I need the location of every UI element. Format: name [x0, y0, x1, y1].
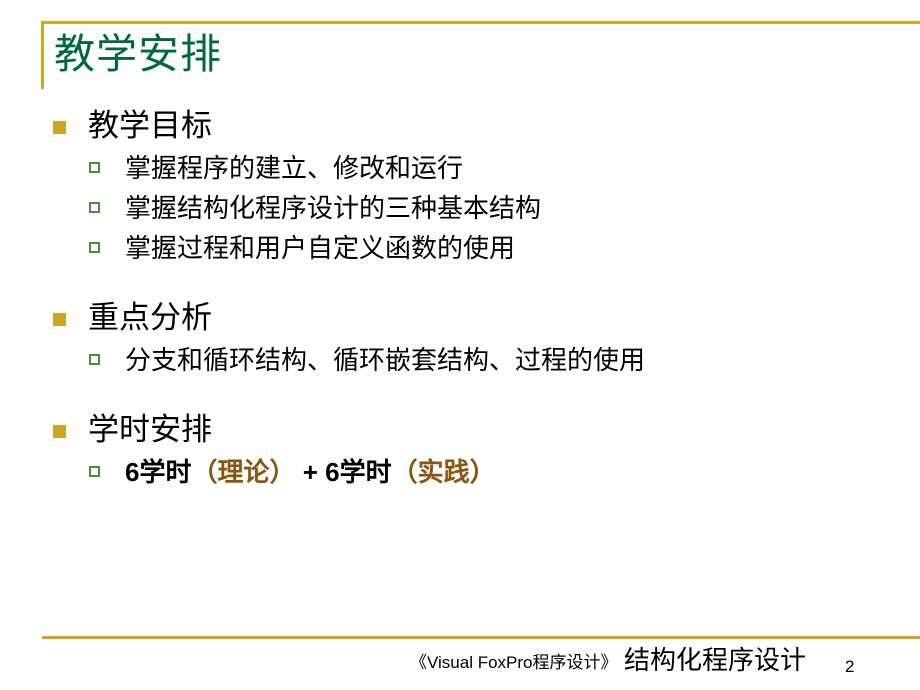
filled-square-bullet-icon [53, 121, 66, 134]
title-top-rule-icon [41, 21, 920, 24]
footer-rule-icon [42, 636, 920, 639]
section-key-analysis: 重点分析 分支和循环结构、循环嵌套结构、过程的使用 [0, 296, 920, 380]
section-class-hours: 学时安排 6学时（理论） + 6学时（实践） [0, 408, 920, 492]
filled-square-bullet-icon [53, 313, 66, 326]
list-item: 掌握程序的建立、修改和运行 [0, 148, 920, 188]
hours-plus-operator: + [295, 457, 325, 487]
section-spacer [0, 386, 920, 408]
hollow-square-bullet-icon [89, 202, 100, 213]
footer-chapter-title: 结构化程序设计 [624, 644, 806, 676]
list-item-label: 掌握程序的建立、修改和运行 [125, 153, 463, 183]
slide-footer: 《Visual FoxPro程序设计》 结构化程序设计 2 [0, 644, 920, 690]
section-spacer [0, 274, 920, 296]
list-item-label: 掌握结构化程序设计的三种基本结构 [125, 193, 541, 223]
hollow-square-bullet-icon [89, 162, 100, 173]
hollow-square-bullet-icon [89, 354, 100, 365]
hollow-square-bullet-icon [89, 466, 100, 477]
page-title: 教学安排 [54, 28, 222, 80]
section-heading: 教学目标 [0, 104, 920, 148]
list-item: 分支和循环结构、循环嵌套结构、过程的使用 [0, 340, 920, 380]
section-teaching-goals: 教学目标 掌握程序的建立、修改和运行 掌握结构化程序设计的三种基本结构 掌握过程… [0, 104, 920, 268]
list-item: 6学时（理论） + 6学时（实践） [0, 452, 920, 492]
hollow-square-bullet-icon [89, 242, 100, 253]
slide-canvas: 教学安排 教学目标 掌握程序的建立、修改和运行 掌握结构化程序设计的三种基本结构… [0, 0, 920, 690]
section-heading: 学时安排 [0, 408, 920, 452]
section-heading-label: 重点分析 [88, 300, 212, 335]
list-item-label: 分支和循环结构、循环嵌套结构、过程的使用 [125, 345, 645, 375]
hours-part2-number: 6学时 [325, 457, 391, 487]
section-heading: 重点分析 [0, 296, 920, 340]
hours-part1-number: 6学时 [125, 457, 191, 487]
list-item-label: 掌握过程和用户自定义函数的使用 [125, 233, 515, 263]
footer-book-title: 《Visual FoxPro程序设计》 [410, 651, 618, 675]
list-item: 掌握结构化程序设计的三种基本结构 [0, 188, 920, 228]
hours-part1-kind: （理论） [191, 457, 295, 487]
list-item: 掌握过程和用户自定义函数的使用 [0, 228, 920, 268]
title-left-rule-icon [41, 21, 44, 89]
filled-square-bullet-icon [53, 425, 66, 438]
hours-part2-kind: （实践） [392, 457, 496, 487]
section-heading-label: 教学目标 [88, 108, 212, 143]
section-heading-label: 学时安排 [88, 412, 212, 447]
slide-body: 教学目标 掌握程序的建立、修改和运行 掌握结构化程序设计的三种基本结构 掌握过程… [0, 104, 920, 498]
page-number: 2 [845, 657, 854, 677]
